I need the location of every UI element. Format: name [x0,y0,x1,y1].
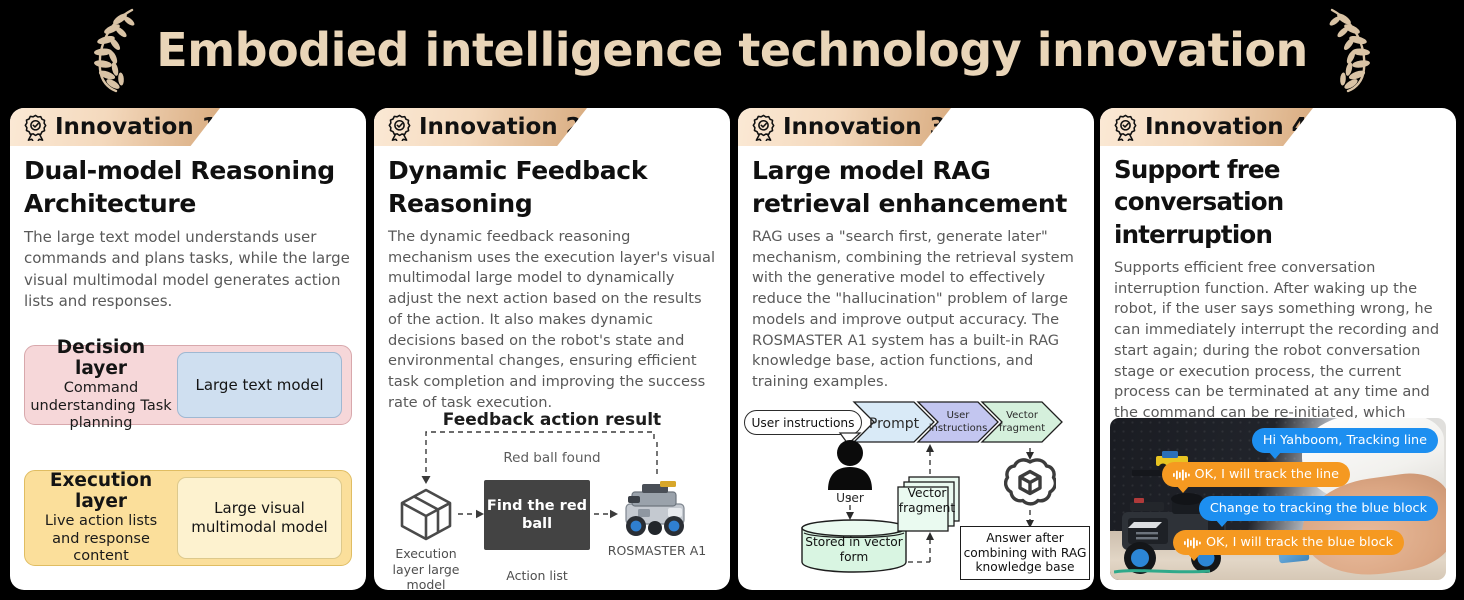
rag-diagram: Prompt User instructions Vector fragment [738,398,1094,588]
chat-bubble-text: OK, I will track the blue block [1206,535,1393,550]
badge-label-1: Innovation 1 [55,114,218,140]
badge-tab-3: Innovation 3 [738,108,951,146]
award-rosette-icon [23,114,48,141]
robot-demo-photo: Hi Yahboom, Tracking line OK, I will tra… [1110,418,1446,580]
badge-label-4: Innovation 4 [1145,114,1308,140]
openai-logo-icon [1004,456,1056,508]
decision-layer-sub: Command understanding Task planning [29,380,173,433]
decision-layer-left: Decision layer Command understanding Tas… [25,337,177,433]
card-body-3: RAG uses a "search first, generate later… [738,220,1094,393]
user-caption: User [820,491,880,506]
card-title-3: Large model RAG retrieval enhancement [738,146,1094,220]
chat-bubble-text: Change to tracking the blue block [1210,501,1427,516]
card-body-2: The dynamic feedback reasoning mechanism… [374,220,730,413]
action-list-box: Find the red ball [484,480,590,550]
stored-vector-label: Stored in vector form [800,535,908,564]
chat-bubble-text: Hi Yahboom, Tracking line [1263,433,1427,448]
execution-layer-box: Execution layer Live action lists and re… [24,470,352,566]
rosmaster-robot-car-icon [612,478,700,542]
innovation-card-3[interactable]: Innovation 3 Large model RAG retrieval e… [738,108,1094,590]
execution-layer-caption: Execution layer large model [380,546,472,590]
badge-tab-2: Innovation 2 [374,108,587,146]
rag-answer-box: Answer after combining with RAG knowledg… [960,526,1090,580]
card-body-1: The large text model understands user co… [10,220,366,312]
rosmaster-robot-photo-icon [1114,478,1264,578]
audio-waveform-icon [1173,469,1190,481]
decision-layer-name: Decision layer [29,337,173,379]
chat-bubble-bot-2: OK, I will track the blue block [1173,530,1404,555]
user-silhouette-icon [826,438,874,490]
chat-bubble-bot-1: OK, I will track the line [1162,462,1350,487]
execution-layer-left: Execution layer Live action lists and re… [25,470,177,566]
bubble-tail [1268,451,1282,459]
card-title-4: Support free conversation interruption [1100,146,1456,251]
award-rosette-icon [1113,114,1138,141]
innovation-card-2[interactable]: Innovation 2 Dynamic Feedback Reasoning … [374,108,730,590]
bubble-tail [1215,519,1229,527]
large-visual-multimodal-model-box: Large visual multimodal model [177,477,342,559]
award-rosette-icon [751,114,776,141]
innovation-card-1[interactable]: Innovation 1 Dual-model Reasoning Archit… [10,108,366,590]
vector-fragment-label: Vector fragment [894,486,960,517]
card-title-1: Dual-model Reasoning Architecture [10,146,366,220]
chat-bubble-user-2: Change to tracking the blue block [1199,496,1438,521]
title-banner: Embodied intelligence technology innovat… [0,0,1464,100]
innovation-card-4[interactable]: Innovation 4 Support free conversation i… [1100,108,1456,590]
execution-layer-sub: Live action lists and response content [29,513,173,566]
award-rosette-icon [387,114,412,141]
large-text-model-box: Large text model [177,352,342,418]
badge-tab-4: Innovation 4 [1100,108,1313,146]
card-title-2: Dynamic Feedback Reasoning [374,146,730,220]
rosmaster-caption: ROSMASTER A1 [592,543,722,559]
laurel-wreath-right-icon [1322,7,1378,93]
feedback-diagram: Feedback action result Red ball found [374,410,730,588]
innovation-cards: Innovation 1 Dual-model Reasoning Archit… [0,100,1464,600]
execution-layer-name: Execution layer [29,470,173,512]
cube-3d-icon [398,486,454,542]
bubble-tail [1176,485,1190,493]
badge-label-2: Innovation 2 [419,114,582,140]
decision-layer-box: Decision layer Command understanding Tas… [24,345,352,425]
action-list-caption: Action list [472,568,602,584]
chat-bubble-text: OK, I will track the line [1195,467,1339,482]
badge-label-3: Innovation 3 [783,114,946,140]
audio-waveform-icon [1184,537,1201,549]
badge-tab-1: Innovation 1 [10,108,220,146]
laurel-wreath-left-icon [86,7,142,93]
page-title: Embodied intelligence technology innovat… [156,23,1307,77]
chat-bubble-user-1: Hi Yahboom, Tracking line [1252,428,1438,453]
bubble-tail [1187,553,1201,561]
